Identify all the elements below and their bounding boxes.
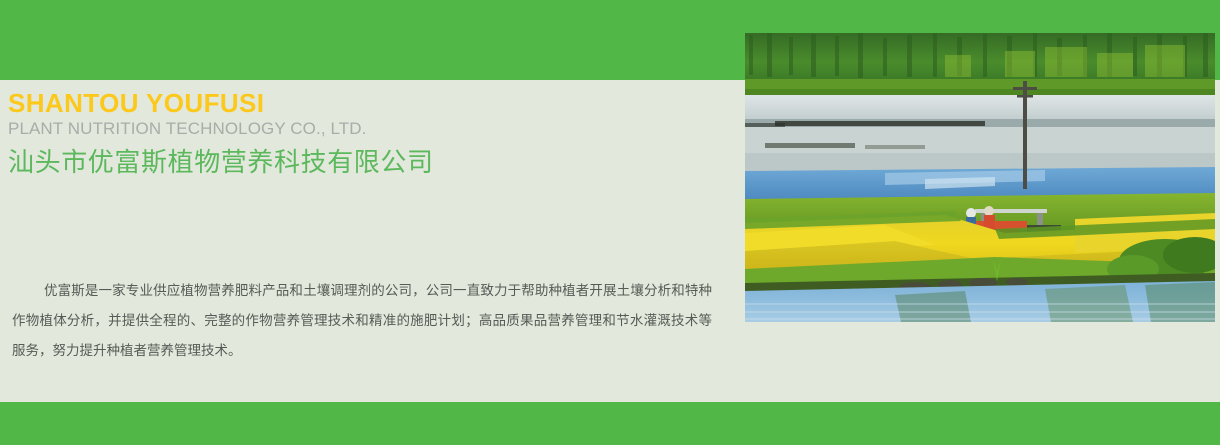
footer-green-bar bbox=[0, 402, 1220, 445]
brand-block: SHANTOU YOUFUSI PLANT NUTRITION TECHNOLO… bbox=[8, 88, 708, 180]
rice-field-photo bbox=[745, 33, 1215, 322]
company-name-chinese: 汕头市优富斯植物营养科技有限公司 bbox=[8, 146, 708, 180]
company-description-paragraph: 优富斯是一家专业供应植物营养肥料产品和土壤调理剂的公司，公司一直致力于帮助种植者… bbox=[12, 276, 712, 366]
company-name-english: SHANTOU YOUFUSI bbox=[8, 88, 708, 118]
page-root: SHANTOU YOUFUSI PLANT NUTRITION TECHNOLO… bbox=[0, 0, 1220, 445]
rice-field-photo-graphic bbox=[745, 33, 1215, 322]
company-subtitle-english: PLANT NUTRITION TECHNOLOGY CO., LTD. bbox=[8, 118, 708, 140]
